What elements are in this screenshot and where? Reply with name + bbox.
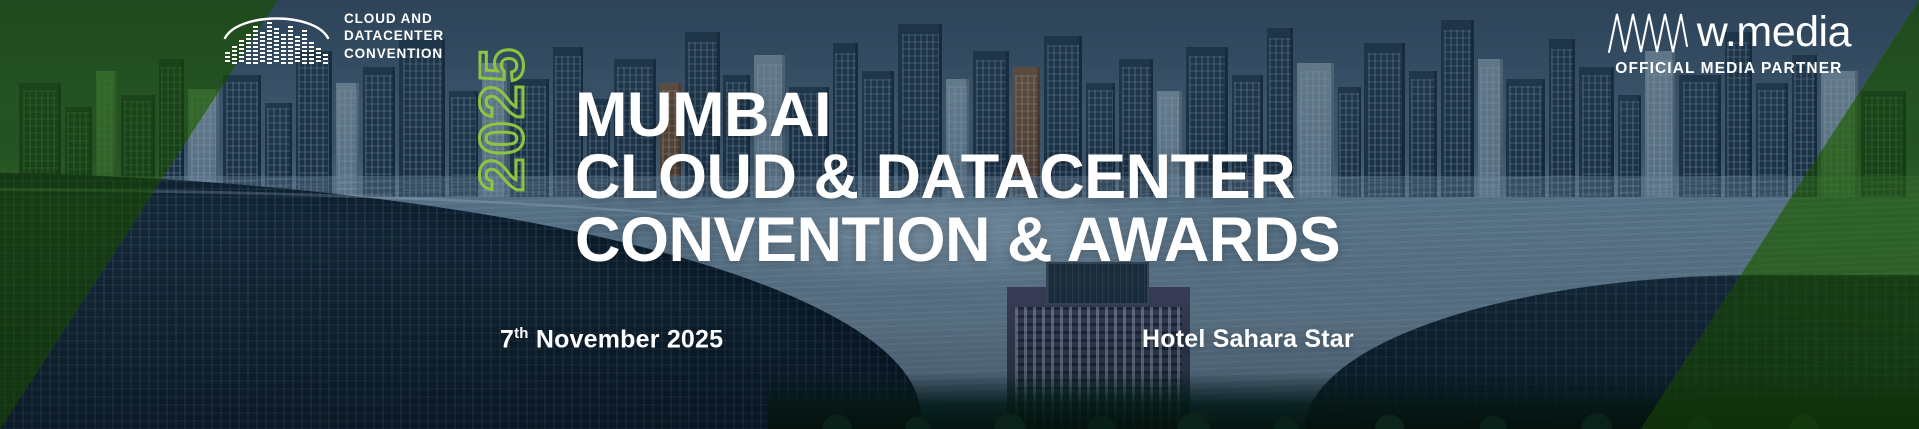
- cdc-logo-line-1: CLOUD AND: [344, 10, 444, 27]
- zigzag-wave-icon: [1607, 10, 1689, 54]
- cloud-datacenter-convention-logo[interactable]: CLOUD AND DATACENTER CONVENTION: [219, 8, 444, 64]
- wmedia-wordmark: w.media: [1697, 11, 1851, 54]
- cdc-logo-line-2: DATACENTER: [344, 27, 444, 44]
- headline-line-2: CLOUD & DATACENTER: [575, 146, 1340, 208]
- page-title: MUMBAI CLOUD & DATACENTER CONVENTION & A…: [575, 84, 1340, 271]
- cdc-skyline-arc-icon: [219, 8, 334, 64]
- event-date-day: 7: [500, 325, 514, 353]
- cdc-logo-line-3: CONVENTION: [344, 45, 444, 62]
- event-date-ordinal: th: [514, 325, 529, 342]
- event-date: 7th November 2025: [500, 325, 723, 354]
- event-venue: Hotel Sahara Star: [1142, 325, 1354, 354]
- media-partner-block[interactable]: w.media OFFICIAL MEDIA PARTNER: [1607, 10, 1851, 78]
- event-banner: CLOUD AND DATACENTER CONVENTION w.media …: [0, 0, 1919, 429]
- event-date-rest: November 2025: [529, 325, 724, 353]
- year-vertical-label: 2025: [471, 9, 533, 229]
- headline-line-3: CONVENTION & AWARDS: [575, 209, 1340, 271]
- cdc-logo-wordmark: CLOUD AND DATACENTER CONVENTION: [344, 10, 444, 62]
- headline-line-1: MUMBAI: [575, 84, 1340, 146]
- official-media-partner-caption: OFFICIAL MEDIA PARTNER: [1615, 60, 1842, 78]
